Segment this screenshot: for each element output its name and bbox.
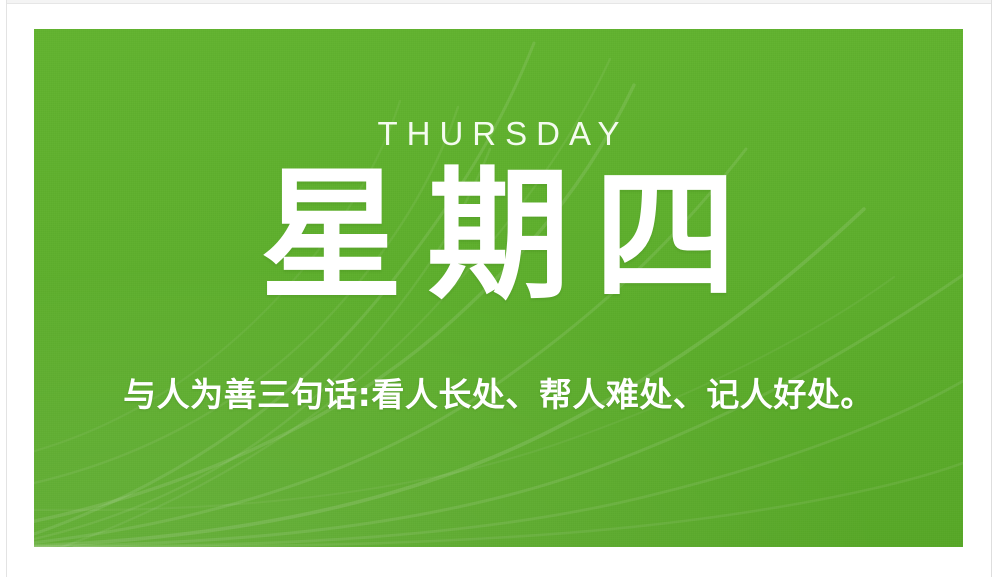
page-top-rule [6,3,992,4]
page-right-rule [991,0,992,577]
page-left-rule [6,0,7,577]
daily-proverb-text: 与人为善三句话:看人长处、帮人难处、记人好处。 [34,374,963,415]
weekday-english-label: THURSDAY [34,117,963,150]
weekday-chinese-title: 星期四 [34,154,963,318]
page-frame: THURSDAY 星期四 与人为善三句话:看人长处、帮人难处、记人好处。 [0,0,1008,577]
card-content: THURSDAY 星期四 与人为善三句话:看人长处、帮人难处、记人好处。 [34,29,963,547]
weekday-greeting-card: THURSDAY 星期四 与人为善三句话:看人长处、帮人难处、记人好处。 [34,29,963,547]
